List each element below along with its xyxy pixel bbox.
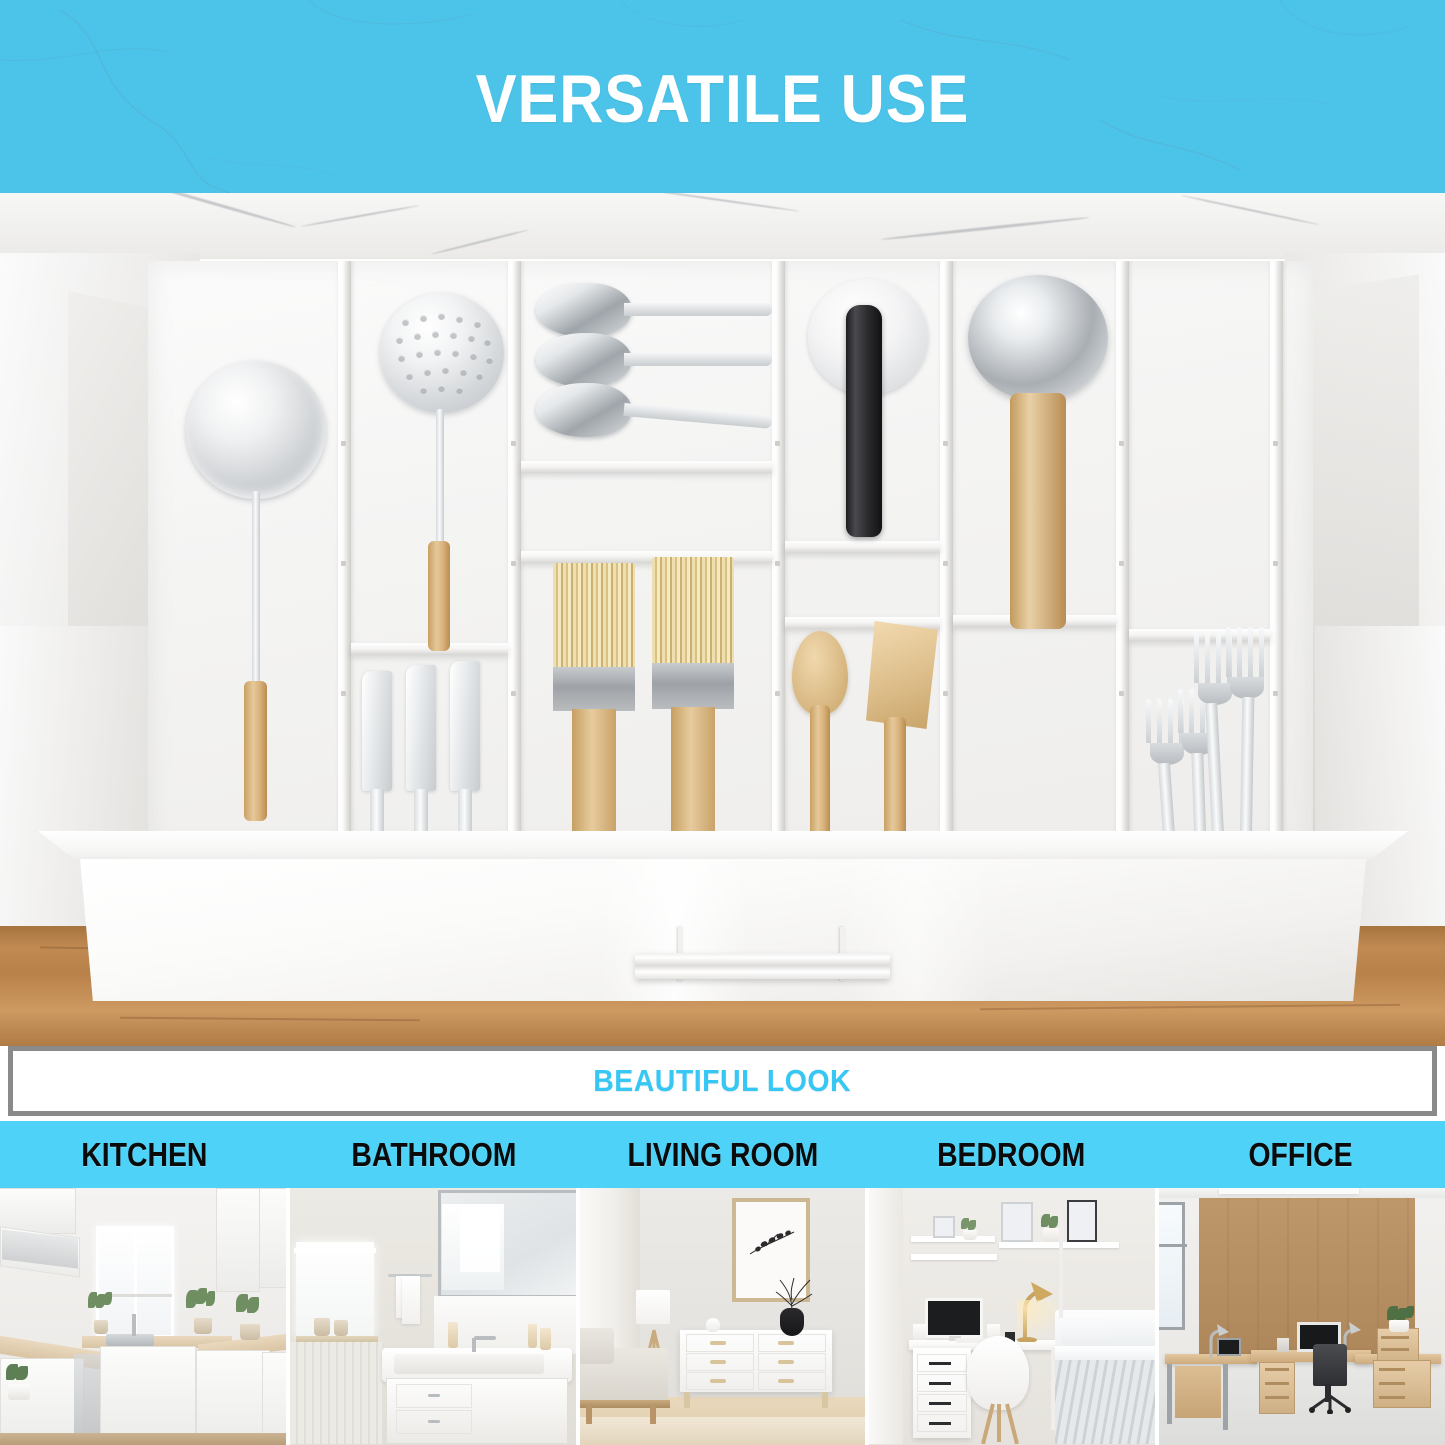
room-photo-bedroom xyxy=(869,1188,1155,1445)
ladle-bowl xyxy=(186,361,326,499)
serving-spoon xyxy=(536,383,776,439)
drawer-interior xyxy=(148,261,1313,851)
basting-brush xyxy=(652,557,734,851)
room-photo-office xyxy=(1159,1188,1445,1445)
pizza-cutter-handle xyxy=(846,305,882,537)
skimmer-head xyxy=(380,293,504,413)
room-label-text: OFFICE xyxy=(1248,1136,1352,1174)
wooden-spoon-handle xyxy=(810,705,830,851)
room-photo-bathroom xyxy=(290,1188,576,1445)
divider-horizontal[interactable] xyxy=(785,541,940,553)
knife xyxy=(362,671,392,851)
divider-vertical[interactable] xyxy=(508,261,521,851)
room-label-text: LIVING ROOM xyxy=(627,1136,818,1174)
beautiful-look-label: BEAUTIFUL LOOK xyxy=(594,1063,852,1099)
basting-brush xyxy=(553,563,635,851)
hero-drawer-photo xyxy=(0,193,1445,1046)
divider-vertical[interactable] xyxy=(1270,261,1283,851)
steel-pan-bowl xyxy=(968,275,1108,401)
skimmer-steel-handle xyxy=(436,409,444,549)
ladle-steel-handle xyxy=(252,491,260,691)
divider-horizontal[interactable] xyxy=(521,461,772,473)
chair-legs-icon xyxy=(969,1402,1031,1444)
room-photo-living-room xyxy=(580,1188,866,1445)
pan-handle-wood xyxy=(1010,393,1066,629)
room-photo-row xyxy=(0,1188,1445,1445)
beautiful-look-band: BEAUTIFUL LOOK xyxy=(8,1046,1437,1116)
drawer-pull-handle[interactable] xyxy=(635,953,890,979)
divider-vertical[interactable] xyxy=(1116,261,1129,851)
header-banner: VERSATILE USE xyxy=(0,0,1445,193)
chair-base-icon xyxy=(1307,1394,1353,1414)
room-label-office: OFFICE xyxy=(1156,1121,1445,1188)
drawer-front-panel[interactable] xyxy=(38,831,1408,1009)
divider-horizontal[interactable] xyxy=(521,551,772,563)
branch-art-icon xyxy=(744,1220,800,1268)
wooden-spoon-head xyxy=(792,631,848,715)
room-label-text: BEDROOM xyxy=(937,1136,1085,1174)
room-label-living-room: LIVING ROOM xyxy=(578,1121,867,1188)
divider-vertical[interactable] xyxy=(940,261,953,851)
room-label-bathroom: BATHROOM xyxy=(289,1121,578,1188)
room-photo-kitchen xyxy=(0,1188,286,1445)
room-label-text: BATHROOM xyxy=(351,1136,516,1174)
room-label-kitchen: KITCHEN xyxy=(0,1121,289,1188)
room-label-text: KITCHEN xyxy=(81,1136,207,1174)
drawer-face xyxy=(80,859,1366,1001)
dried-branch-icon xyxy=(772,1274,816,1312)
room-label-strip: KITCHEN BATHROOM LIVING ROOM BEDROOM OFF… xyxy=(0,1121,1445,1188)
skimmer-wood-handle xyxy=(428,541,450,651)
serving-spoon xyxy=(536,283,776,339)
knife xyxy=(450,661,480,851)
room-label-bedroom: BEDROOM xyxy=(867,1121,1156,1188)
divider-vertical[interactable] xyxy=(338,261,351,851)
desk-lamp-icon xyxy=(1201,1320,1231,1358)
serving-spoon xyxy=(536,333,776,389)
product-infographic: VERSATILE USE xyxy=(0,0,1445,1445)
drawer-top-edge xyxy=(38,831,1408,863)
wooden-spatula-head xyxy=(866,621,938,729)
knife xyxy=(406,665,436,851)
ladle-wood-handle xyxy=(244,681,267,821)
fork xyxy=(1224,627,1270,851)
page-title: VERSATILE USE xyxy=(72,0,1373,193)
